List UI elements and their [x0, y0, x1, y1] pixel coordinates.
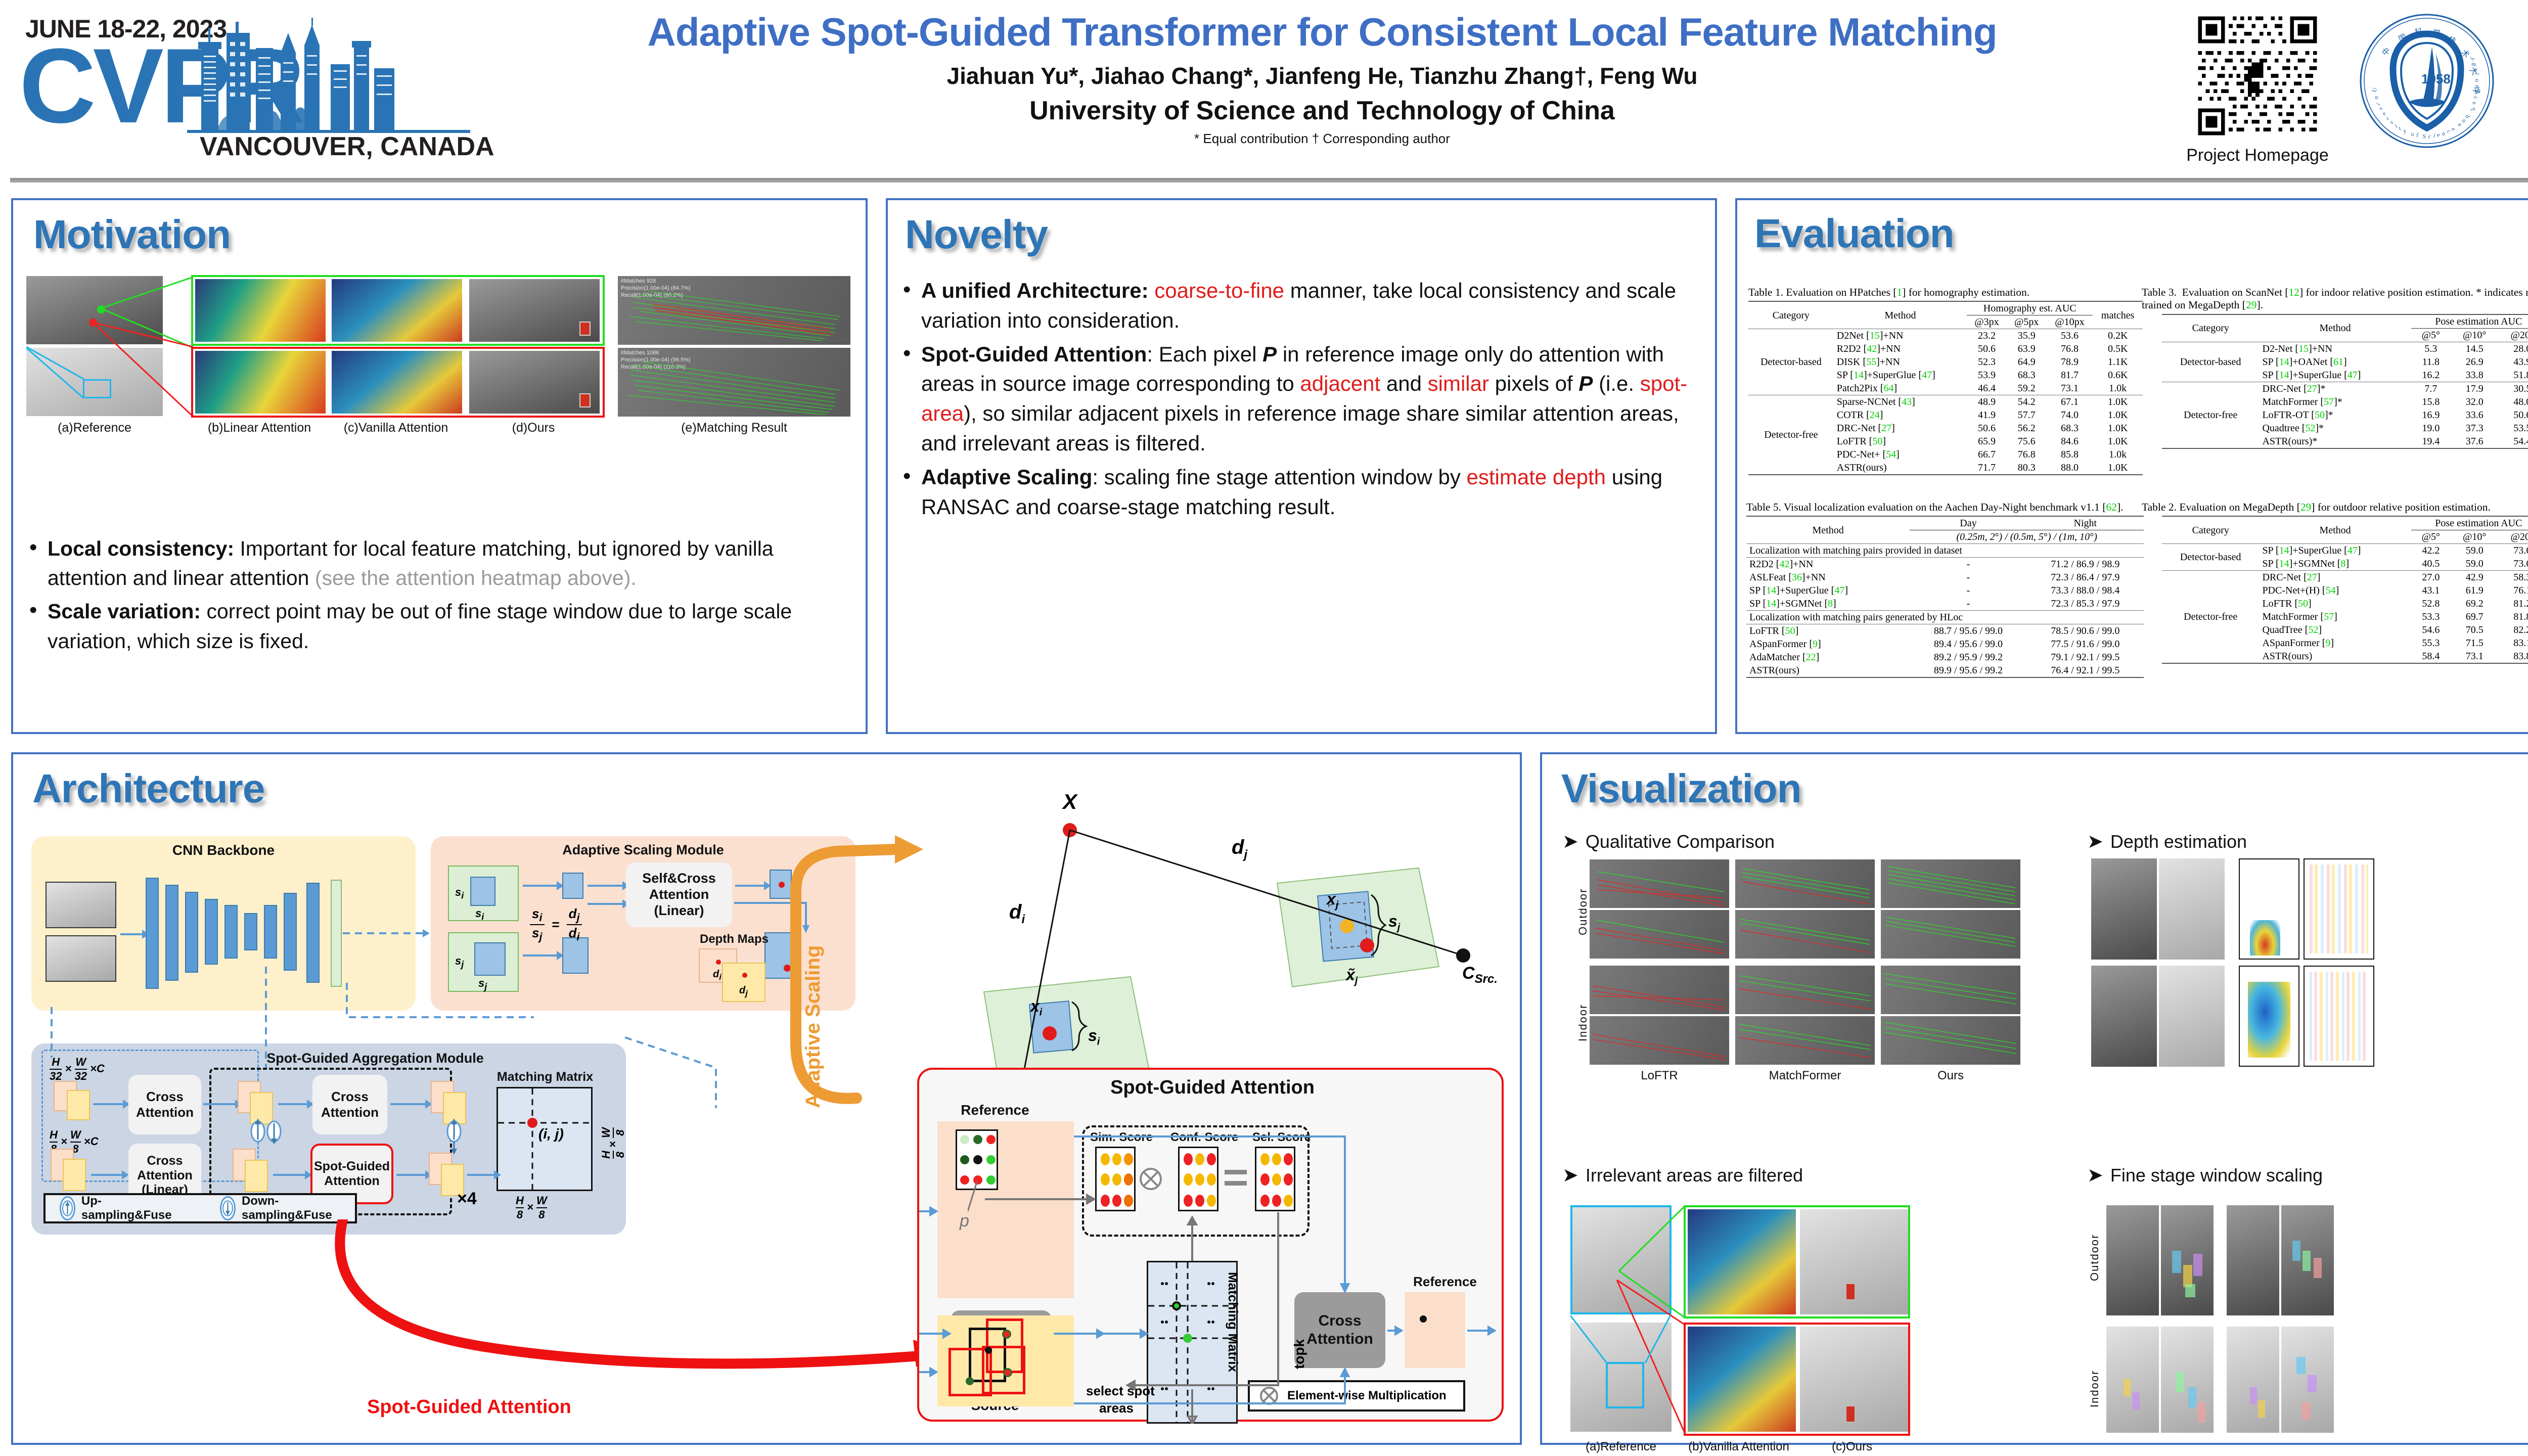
table1-row-method: ASTR(ours) [1834, 461, 1967, 475]
table5-cell-night: 78.5 / 90.6 / 99.0 [2027, 624, 2144, 638]
spot-detail-p-label: p [960, 1211, 969, 1231]
table2-cell: 58.3 [2498, 571, 2528, 584]
motivation-caption-4: (e)Matching Result [618, 421, 850, 435]
table1-cell: 1.0K [2093, 461, 2143, 475]
select-spot-label-l1: select spot [1086, 1383, 1155, 1399]
table5-cell-night: 76.4 / 92.1 / 99.5 [2027, 664, 2144, 677]
motivation-vanilla-attention-bottom [332, 351, 462, 414]
table2-subheader-1: @10° [2451, 530, 2498, 544]
element-wise-mult-icon-1 [1139, 1167, 1164, 1192]
table2-cell: 73.6 [2498, 544, 2528, 558]
fine-stage-cell [2281, 1327, 2334, 1433]
table5-row-method: ASpanFormer [9] [1746, 638, 1910, 651]
cross-attention-repeat-l2: Attention [321, 1105, 379, 1120]
geometry-label-xi: xi [1030, 997, 1042, 1018]
table3-cell: 19.0 [2411, 422, 2451, 435]
table3-cell: 11.8 [2411, 355, 2451, 369]
table5-cell-night: 72.3 / 85.3 / 97.9 [2027, 597, 2144, 611]
fine-stage-cell [2227, 1327, 2279, 1433]
legend-downsample-label: Down-sampling&Fuse [242, 1194, 355, 1222]
spot-detail-matching-matrix-label: Matching Matrix [1225, 1272, 1241, 1372]
spot-detail-matching-matrix [1147, 1261, 1238, 1424]
svg-text:e: e [2436, 131, 2442, 139]
table1-cell: 0.5K [2093, 342, 2143, 355]
irrelevant-row-green [1684, 1205, 1910, 1318]
svg-text:y: y [2469, 57, 2477, 62]
element-wise-mult-icon-2 [1259, 1386, 1279, 1406]
motivation-caption-1: (b)Linear Attention [193, 421, 326, 435]
svg-text:n: n [2372, 95, 2380, 100]
cross-attention-coarse: CrossAttention [128, 1075, 201, 1134]
chevron-right-icon: ➤ [1562, 831, 1578, 852]
table1-header-method: Method [1834, 301, 1967, 329]
equals-sign [1225, 1170, 1247, 1187]
table5-cell-day: - [1910, 558, 2026, 571]
qualitative-cell [1735, 910, 1875, 959]
table3-subheader-2: @20° [2498, 328, 2528, 342]
qualitative-cell [1881, 910, 2020, 959]
table1-subheader-0: @3px [1967, 315, 2007, 329]
cnn-backbone-label: CNN Backbone [31, 842, 416, 858]
svg-text:c: c [2472, 96, 2480, 99]
repeat-count-label: ×4 [457, 1189, 477, 1209]
table2-cell: 58.4 [2411, 650, 2451, 663]
depth-map-output-1 [2239, 858, 2299, 960]
geometry-label-dj: dj [1232, 836, 1247, 862]
scaling-to-attention-arrow-1 [588, 885, 623, 887]
qualitative-row-label-indoor: Indoor [1576, 1004, 1590, 1041]
motivation-linear-attention-top [195, 279, 326, 342]
table5-row-method: AdaMatcher [22] [1746, 651, 1910, 664]
svg-text:中: 中 [2380, 46, 2392, 58]
table1-cell: 67.1 [2047, 395, 2093, 409]
depth-map-output-3 [2239, 966, 2299, 1067]
matching-matrix-label: Matching Matrix [479, 1070, 611, 1084]
aggregation-module-label: Spot-Guided Aggregation Module [244, 1051, 507, 1066]
table2-row-method: ASpanFormer [9] [2259, 636, 2411, 650]
novelty-bullet-1-t5: ), so similar adjacent pixels in referen… [921, 401, 1679, 455]
section-title-architecture: Architecture [32, 765, 264, 812]
backbone-conv-5 [224, 905, 238, 959]
table1-cell: 66.7 [1967, 448, 2007, 461]
table1-cell: 81.7 [2047, 369, 2093, 382]
table1-cell: 0.6K [2093, 369, 2143, 382]
qualitative-cell [1590, 966, 1729, 1014]
svg-text:d: d [2464, 113, 2471, 119]
agg-arrow-2 [91, 1174, 122, 1176]
table1-cell: 85.8 [2047, 448, 2093, 461]
table2: Category Method Pose estimation AUC @5° … [2162, 516, 2528, 664]
table2-cell: 27.0 [2411, 571, 2451, 584]
ustc-logo-icon: 1958 中 国 科 学 技 术 大 学 Un iv er si ty of S… [2359, 13, 2495, 149]
table1-header-matches: matches [2093, 301, 2143, 329]
spot-detail-cross-attention: CrossAttention [1294, 1292, 1385, 1368]
feature-map-repeat-fine-src [245, 1160, 268, 1192]
table1-row-method: Sparse-NCNet [43] [1834, 395, 1967, 409]
table3-cell: 16.2 [2411, 369, 2451, 382]
sel-score-label: Sel. Score [1249, 1130, 1315, 1145]
table3-cell: 48.0 [2498, 395, 2528, 408]
novelty-bullet-list: A unified Architecture: coarse-to-fine m… [899, 276, 1703, 526]
table1-cell: 35.9 [2007, 329, 2047, 343]
table5-cell-day: 89.9 / 95.6 / 99.2 [1910, 664, 2026, 677]
conf-score-label: Conf. Score [1165, 1130, 1244, 1145]
svg-text:c: c [2427, 132, 2432, 140]
feature-map-out-coarse-src [443, 1092, 466, 1124]
table5-cell-night: 73.3 / 88.0 / 98.4 [2027, 584, 2144, 597]
feature-map-fine-src [63, 1159, 86, 1191]
table2-header-method: Method [2259, 516, 2411, 544]
table3-group-1-category: Detector-free [2162, 382, 2259, 448]
irrelevant-caption-2: (c)Ours [1798, 1440, 1906, 1454]
matching-matrix-box: (i, j) [496, 1087, 593, 1191]
depth-estimation-grid [2091, 858, 2528, 1071]
table3-cell: 16.9 [2411, 408, 2451, 422]
motivation-bullet-list: Local consistency: Important for local f… [25, 534, 844, 660]
table2-cell: 81.2 [2498, 597, 2528, 610]
cross-attention-coarse-l2: Attention [136, 1105, 194, 1120]
table5-header-day: Day [1910, 516, 2026, 530]
table1-subheader-2: @10px [2047, 315, 2093, 329]
table2-cell: 83.1 [2498, 636, 2528, 650]
svg-text:e: e [2471, 101, 2478, 105]
table1-cell: 56.2 [2007, 422, 2047, 435]
table1-cell: 78.9 [2047, 355, 2093, 369]
table3-cell: 32.0 [2451, 395, 2498, 408]
table5-header-thresholds: (0.25m, 2°) / (0.5m, 5°) / (1m, 10°) [1910, 530, 2144, 544]
down-sampling-icon [220, 1196, 236, 1220]
author-footnote: * Equal contribution † Corresponding aut… [501, 131, 2144, 147]
table3-header-method: Method [2259, 314, 2411, 342]
table5-row-method: SP [14]+SGMNet [8] [1746, 597, 1910, 611]
backbone-input-arrow [120, 933, 143, 935]
motivation-row-red [191, 347, 605, 418]
novelty-bullet-1-i2: P [1578, 372, 1593, 395]
table5-cell-day: 89.4 / 95.6 / 99.0 [1910, 638, 2026, 651]
table5-cell-night: 71.2 / 86.9 / 98.9 [2027, 558, 2144, 571]
table1-wrapper: Table 1. Evaluation on HPatches [1] for … [1748, 286, 2148, 475]
backbone-conv-1 [146, 878, 159, 989]
panel-architecture: Architecture CNN Backbone Adaptive Scali… [11, 752, 1522, 1445]
svg-text:f: f [2416, 131, 2419, 139]
cnn-backbone-module: CNN Backbone [31, 836, 416, 1011]
table2-cell: 76.1 [2498, 584, 2528, 597]
table3-cell: 54.4 [2498, 435, 2528, 448]
qualitative-col-label-1: MatchFormer [1735, 1069, 1875, 1083]
matching-matrix-dim-bottom: H8 × W8 [516, 1194, 547, 1221]
table1-cell: 73.1 [2047, 382, 2093, 395]
irrelevant-ours-bottom [1800, 1327, 1908, 1432]
spot-detail-legend: Element-wise Multiplication [1248, 1380, 1465, 1412]
table3-header-category: Category [2162, 314, 2259, 342]
backbone-conv-4 [205, 899, 218, 965]
svg-text:n: n [2474, 85, 2481, 88]
matching-matrix-dim-right: H8 × W8 [600, 1127, 627, 1159]
irrelevant-ours-top [1800, 1209, 1908, 1314]
backbone-conv-2 [165, 885, 178, 981]
table3-cell: 33.6 [2451, 408, 2498, 422]
novelty-bullet-1-i1: P [1262, 342, 1277, 366]
depth-map-output-2 [2304, 858, 2374, 960]
table2-cell: 55.3 [2411, 636, 2451, 650]
svg-text:n: n [2441, 130, 2447, 138]
table1-cell: 1.0K [2093, 435, 2143, 448]
spot-detail-source-box [937, 1315, 1074, 1406]
spot-guided-red-arrow [296, 1219, 964, 1386]
legend-downsample: Down-sampling&Fuse [220, 1194, 355, 1222]
geometry-label-di: di [1009, 901, 1025, 927]
list-item: Adaptive Scaling: scaling fine stage att… [899, 463, 1703, 522]
legend-upsample: Up-sampling&Fuse [60, 1194, 179, 1222]
sim-score-grid [1095, 1147, 1136, 1211]
novelty-bullet-1-t3: pixels of [1489, 372, 1578, 395]
motivation-matching-result-bottom: #Matches 1086Precision(1.00e-04) (99.5%)… [618, 348, 850, 417]
table5: Method Day Night (0.25m, 2°) / (0.5m, 5°… [1746, 516, 2144, 678]
irrelevant-caption-0: (a)Reference [1570, 1440, 1672, 1454]
table1-cell: 50.6 [1967, 422, 2007, 435]
table1: Category Method Homography est. AUC matc… [1748, 301, 2143, 475]
qualitative-cell [1735, 859, 1875, 908]
cross-attention-repeat: CrossAttention [312, 1075, 387, 1134]
table3-caption: Table 3. Evaluation on ScanNet [12] for … [2142, 286, 2528, 312]
motivation-vanilla-attention-top [332, 279, 462, 342]
spot-detail-reference-out-label: Reference [1394, 1274, 1496, 1290]
qualitative-col-label-0: LoFTR [1590, 1069, 1729, 1083]
geometry-label-c-src: CSrc. [1462, 964, 1498, 986]
geometry-label-si: si [1088, 1026, 1100, 1048]
table2-cell: 73.6 [2498, 557, 2528, 571]
table1-cell: 48.9 [1967, 395, 2007, 409]
table1-cell: 75.6 [2007, 435, 2047, 448]
table2-subheader-0: @5° [2411, 530, 2451, 544]
table2-row-method: SP [14]+SuperGlue [47] [2259, 544, 2411, 558]
svg-text:o: o [2411, 130, 2414, 138]
vis-subhead-irrelevant: ➤Irrelevant areas are filtered [1562, 1164, 1803, 1187]
agg-arrow-6 [390, 1103, 426, 1105]
scaling-patch-j: sj sj [448, 932, 519, 992]
table2-cell: 52.8 [2411, 597, 2451, 610]
spot-guided-detail-title: Spot-Guided Attention [919, 1077, 1506, 1099]
depth-map-j: dj [722, 963, 765, 1002]
qualitative-grid: Outdoor Indoor [1572, 859, 2043, 1067]
sim-score-label: Sim. Score [1086, 1130, 1157, 1145]
novelty-bullet-2-lead: Adaptive Scaling [921, 465, 1092, 489]
table5-cell-night: 79.1 / 92.1 / 99.5 [2027, 651, 2144, 664]
topk-label: topk [1291, 1339, 1307, 1369]
table2-cell: 53.3 [2411, 610, 2451, 623]
vis-subhead-qualitative-label: Qualitative Comparison [1586, 831, 1775, 852]
motivation-reference-top [26, 276, 163, 344]
table2-cell: 43.1 [2411, 584, 2451, 597]
title-block: Adaptive Spot-Guided Transformer for Con… [501, 9, 2144, 147]
table2-row-method: DRC-Net [27] [2259, 571, 2411, 584]
novelty-bullet-1-red2: similar [1428, 372, 1489, 395]
project-homepage-qr[interactable]: Project Homepage [2179, 13, 2336, 165]
table2-row-method: ASTR(ours) [2259, 650, 2411, 663]
cross-attention-coarse-l1: Cross [146, 1089, 184, 1104]
table1-cell: 76.8 [2047, 342, 2093, 355]
table1-header-category: Category [1748, 301, 1834, 329]
table1-cell: 68.3 [2007, 369, 2047, 382]
matching-matrix-point-label: (i, j) [538, 1126, 564, 1142]
spot-detail-reference-box: p [937, 1121, 1074, 1298]
table1-row-method: DISK [55]+NN [1834, 355, 1967, 369]
qr-caption: Project Homepage [2179, 146, 2336, 165]
depth-maps-label: Depth Maps [694, 932, 775, 946]
motivation-reference-bottom [26, 348, 163, 416]
fine-stage-grid: Outdoor Indoor [2083, 1205, 2528, 1438]
irrelevant-areas-figure: (a)Reference (b)Vanilla Attention (c)Our… [1570, 1205, 2020, 1443]
table3-subheader-0: @5° [2411, 328, 2451, 342]
table3-cell: 14.5 [2451, 342, 2498, 355]
motivation-ours-top [469, 279, 600, 342]
table3-wrapper: Table 3. Evaluation on ScanNet [12] for … [2142, 286, 2528, 449]
backbone-input-image-2 [46, 935, 116, 982]
table2-cell: 42.2 [2411, 544, 2451, 558]
table5-row-method: ASLFeat [36]+NN [1746, 571, 1910, 584]
list-item: A unified Architecture: coarse-to-fine m… [899, 276, 1703, 336]
table2-cell: 82.2 [2498, 623, 2528, 636]
geometry-label-X: X [1063, 790, 1077, 814]
adaptive-scaling-vertical-label: Adaptive Scaling [802, 945, 825, 1108]
table1-cell: 52.3 [1967, 355, 2007, 369]
table3-cell: 28.0 [2498, 342, 2528, 355]
table3: Category Method Pose estimation AUC @5° … [2162, 314, 2528, 449]
backbone-deconv-3 [306, 883, 320, 983]
fine-stage-cell [2106, 1327, 2159, 1433]
table2-cell: 73.1 [2451, 650, 2498, 663]
table5-row-method: LoFTR [50] [1746, 624, 1910, 638]
novelty-bullet-2-t0: : scaling fine stage attention window by [1092, 465, 1466, 489]
table5-cell-day: 88.7 / 95.6 / 99.0 [1910, 624, 2026, 638]
novelty-bullet-1-red1: adjacent [1300, 372, 1380, 395]
depth-input-image-1 [2091, 858, 2157, 960]
irrelevant-reference-top [1570, 1205, 1672, 1314]
table5-cell-day: 89.2 / 95.9 / 99.2 [1910, 651, 2026, 664]
irrelevant-reference-bottom [1570, 1323, 1672, 1432]
section-title-motivation: Motivation [33, 211, 231, 258]
table5-wrapper: Table 5. Visual localization evaluation … [1746, 501, 2146, 678]
table1-group-0-category: Detector-based [1748, 329, 1834, 395]
table1-row-method: COTR [24] [1834, 408, 1967, 422]
spot-detail-reference-label: Reference [939, 1102, 1051, 1118]
table1-header-group: Homography est. AUC [1967, 301, 2093, 315]
qualitative-cell [1735, 966, 1875, 1014]
table1-cell: 64.9 [2007, 355, 2047, 369]
fine-stage-cell [2161, 1327, 2214, 1433]
select-spot-label-l2: areas [1099, 1400, 1134, 1416]
panel-motivation: Motivation [11, 198, 868, 734]
table1-cell: 74.0 [2047, 408, 2093, 422]
motivation-caption-0: (a)Reference [26, 421, 163, 435]
vis-subhead-depth-label: Depth estimation [2110, 831, 2247, 852]
up-sampling-icon [60, 1196, 75, 1220]
table1-row-method: Patch2Pix [64] [1834, 382, 1967, 395]
table1-cell: 54.2 [2007, 395, 2047, 409]
vis-subhead-finestage: ➤Fine stage window scaling [2087, 1164, 2323, 1187]
novelty-bullet-2-red1: estimate depth [1467, 465, 1606, 489]
irrelevant-caption-1: (b)Vanilla Attention [1685, 1440, 1793, 1454]
table5-cell-night: 77.5 / 91.6 / 99.0 [2027, 638, 2144, 651]
table2-cell: 42.9 [2451, 571, 2498, 584]
svg-text:i: i [2432, 132, 2437, 140]
table1-cell: 57.7 [2007, 408, 2047, 422]
spot-detail-legend-label: Element-wise Multiplication [1287, 1389, 1447, 1403]
chevron-right-icon: ➤ [2087, 1165, 2103, 1186]
conf-score-grid [1178, 1147, 1218, 1211]
table1-cell: 1.0K [2093, 395, 2143, 409]
scaling-token-i [562, 873, 583, 899]
cross-attention-linear-l1: Cross [147, 1154, 183, 1168]
panel-visualization: Visualization ➤Qualitative Comparison Ou… [1540, 752, 2528, 1445]
spot-guided-aggregation-module: Spot-Guided Aggregation Module H32 × W32… [31, 1043, 626, 1235]
motivation-caption-3: (d)Ours [467, 421, 600, 435]
irrelevant-vanilla-top [1688, 1209, 1796, 1314]
table3-cell: 53.5 [2498, 422, 2528, 435]
poster-header: JUNE 18-22, 2023 CVPR [0, 0, 2528, 197]
table3-subheader-1: @10° [2451, 328, 2498, 342]
motivation-linear-attention-bottom [195, 351, 326, 414]
fine-stage-row-label-outdoor: Outdoor [2088, 1234, 2101, 1282]
feature-map-coarse-src [67, 1090, 90, 1120]
backbone-output-feature [331, 880, 342, 987]
table1-cell: 1.1K [2093, 355, 2143, 369]
conference-city: VANCOUVER, CANADA [200, 131, 494, 162]
table3-row-method: SP [14]+OANet [61] [2259, 355, 2411, 369]
chevron-right-icon: ➤ [2087, 831, 2103, 852]
table1-subheader-1: @5px [2007, 315, 2047, 329]
motivation-figure-group: #Matches 928Precision(1.00e-04) (84.7%)R… [26, 276, 850, 433]
table1-row-method: D2Net [15]+NN [1834, 329, 1967, 343]
vis-subhead-finestage-label: Fine stage window scaling [2110, 1165, 2323, 1186]
table2-cell: 69.2 [2451, 597, 2498, 610]
backbone-deconv-2 [284, 893, 297, 971]
table5-cell-day: - [1910, 597, 2026, 611]
table1-cell: 68.3 [2047, 422, 2093, 435]
qualitative-cell [1590, 859, 1729, 908]
table5-cell-day: - [1910, 584, 2026, 597]
section-title-visualization: Visualization [1561, 765, 1801, 812]
svg-text:e: e [2450, 125, 2457, 132]
vis-subhead-depth: ➤Depth estimation [2087, 830, 2247, 853]
header-divider [10, 178, 2528, 183]
table5-section-1: Localization with matching pairs provide… [1746, 544, 2144, 558]
self-cross-attention-line3: (Linear) [654, 903, 704, 918]
depth-input-image-4 [2159, 966, 2225, 1067]
backbone-input-image-1 [46, 882, 116, 928]
table1-cell: 1.0K [2093, 408, 2143, 422]
table2-cell: 59.0 [2451, 557, 2498, 571]
adaptive-scaling-module: Adaptive Scaling Module si si sj sj sisj… [431, 836, 855, 1011]
fine-stage-row-label-indoor: Indoor [2088, 1370, 2101, 1407]
spot-guided-attention-detail-panel: Spot-Guided Attention Reference p Sim. S… [917, 1068, 1504, 1422]
table3-row-method: D2-Net [15]+NN [2259, 342, 2411, 355]
irrelevant-row-red [1684, 1323, 1910, 1436]
affiliation: University of Science and Technology of … [501, 96, 2144, 126]
svg-text:S: S [2422, 132, 2427, 140]
motivation-bullet-0-grey: (see the attention heatmap above). [315, 566, 637, 589]
qr-code-icon[interactable] [2194, 13, 2321, 139]
feature-map-repeat-coarse-src [250, 1092, 273, 1124]
spot-detail-reference-out-box [1405, 1292, 1465, 1368]
list-item: Local consistency: Important for local f… [25, 534, 844, 593]
list-item: Scale variation: correct point may be ou… [25, 597, 844, 655]
motivation-ours-bottom [469, 351, 600, 414]
table1-cell: 23.2 [1967, 329, 2007, 343]
qualitative-cell [1881, 1016, 2020, 1065]
table5-row-method: ASTR(ours) [1746, 664, 1910, 677]
qualitative-col-label-2: Ours [1881, 1069, 2020, 1083]
